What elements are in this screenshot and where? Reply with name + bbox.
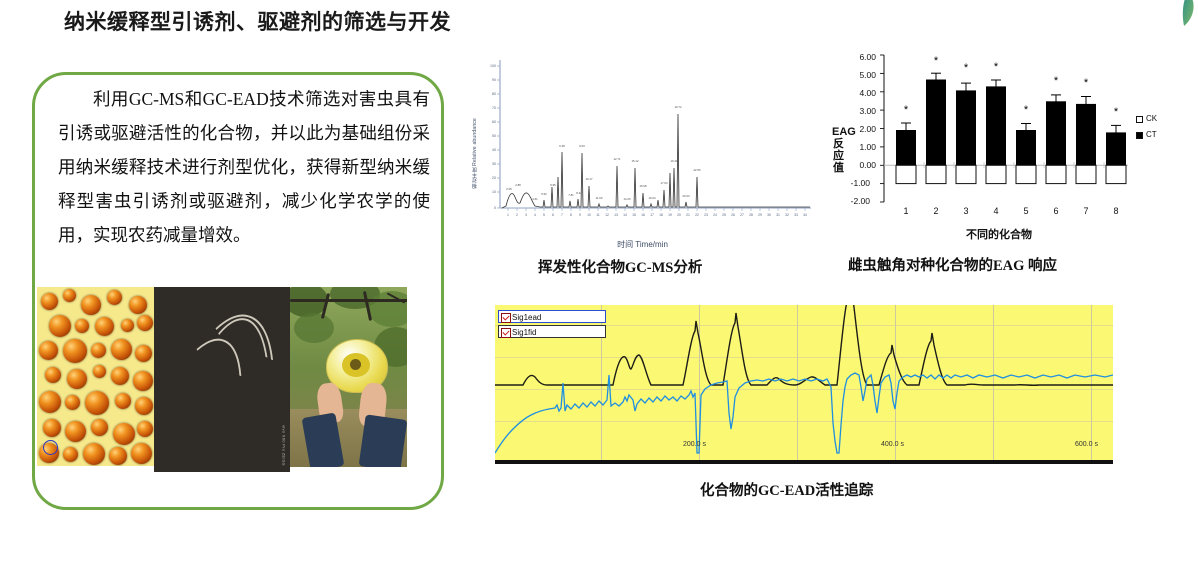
svg-text:7.81: 7.81 [568,193,574,197]
svg-text:12: 12 [605,213,609,217]
eag-xtick-8: 8 [1104,206,1128,216]
eag-legend-swatch-ct [1136,132,1143,139]
svg-text:*: * [1084,77,1089,89]
signal-label-fid: Sig1fid [512,328,536,337]
orchard-trap-photo [290,287,407,467]
svg-text:50: 50 [492,134,496,138]
svg-text:34: 34 [803,213,807,217]
svg-text:26: 26 [731,213,735,217]
svg-text:100: 100 [490,64,496,68]
svg-text:4.61: 4.61 [532,197,538,201]
svg-text:20.63: 20.63 [683,194,690,198]
svg-text:31: 31 [776,213,780,217]
gcead-time-tick-600: 600.0 s [1075,441,1098,448]
gcms-x-axis-label: 时间 Time/min [470,239,815,250]
svg-text:6: 6 [552,213,554,217]
eag-xtick-3: 3 [954,206,978,216]
svg-text:15.12: 15.12 [632,159,639,163]
svg-text:7: 7 [561,213,563,217]
eag-ytick-6: 6.00 [846,52,876,62]
eag-xtick-7: 7 [1074,206,1098,216]
eag-ytick-0: 0.00 [846,160,876,170]
svg-text:4: 4 [534,213,536,217]
eag-xtick-2: 2 [924,206,948,216]
svg-text:9.03: 9.03 [579,144,585,148]
svg-text:8: 8 [570,213,572,217]
svg-text:22.56: 22.56 [694,168,701,172]
eag-xtick-6: 6 [1044,206,1068,216]
eag-y-axis-label: EAG反应值 [832,126,845,174]
svg-text:60: 60 [492,120,496,124]
signal-checkbox-fid[interactable]: Sig1fid [498,325,606,338]
svg-text:0: 0 [494,206,496,210]
svg-text:20: 20 [492,176,496,180]
eag-ytick-1: 1.00 [846,142,876,152]
eag-ytick-neg1: -1.00 [840,178,870,188]
svg-text:27: 27 [740,213,744,217]
svg-text:24: 24 [713,213,717,217]
svg-text:10: 10 [492,190,496,194]
svg-text:22: 22 [695,213,699,217]
eag-legend-label-ck: CK [1146,114,1157,123]
svg-text:*: * [904,104,909,116]
svg-text:30: 30 [767,213,771,217]
gcms-plot: 1009080 706050 403020 100 123 [470,56,815,231]
gcms-caption: 挥发性化合物GC-MS分析 [538,256,702,277]
svg-text:80: 80 [492,92,496,96]
svg-text:12.71: 12.71 [614,157,621,161]
checkbox-checked-icon[interactable] [501,313,511,323]
svg-text:5.95: 5.95 [550,183,556,187]
svg-text:30: 30 [492,162,496,166]
svg-text:32: 32 [785,213,789,217]
svg-text:5.52: 5.52 [541,192,547,196]
eag-ytick-4: 4.00 [846,88,876,98]
eag-caption: 雌虫触角对种化合物的EAG 响应 [848,254,1057,275]
eag-plot-area: * * * * * * * [880,52,1130,212]
scale-marker-circle [43,440,58,455]
eag-ytick-5: 5.00 [846,70,876,80]
svg-text:2: 2 [516,213,518,217]
svg-text:19: 19 [668,213,672,217]
eag-ytick-2: 2.00 [846,124,876,134]
eag-xtick-1: 1 [894,206,918,216]
gcead-time-tick-200: 200.0 s [683,441,706,448]
svg-text:17: 17 [650,213,654,217]
svg-text:23: 23 [704,213,708,217]
svg-text:9: 9 [579,213,581,217]
svg-text:2.05: 2.05 [506,187,512,191]
svg-text:11.60: 11.60 [596,196,603,200]
gcms-chromatogram: 相对丰度 Relative abundance 1009080 706050 4… [470,56,815,246]
photo-strip: vivo X60 Pro ZEISS [37,287,407,472]
svg-text:16.64: 16.64 [649,196,656,200]
svg-text:13: 13 [614,213,618,217]
sem-watermark: vivo X60 Pro ZEISS [281,425,287,466]
svg-text:19.72: 19.72 [675,105,682,109]
svg-text:6.48: 6.48 [559,144,565,148]
svg-text:16: 16 [641,213,645,217]
svg-text:3: 3 [525,213,527,217]
svg-text:10: 10 [587,213,591,217]
svg-text:25: 25 [722,213,726,217]
svg-text:18: 18 [659,213,663,217]
svg-text:5: 5 [543,213,545,217]
svg-text:*: * [1114,106,1119,118]
svg-text:10.17: 10.17 [586,177,593,181]
gcead-chart: Sig1ead Sig1fid 200.0 s 400.0 s 600.0 s [495,305,1113,464]
info-panel-body-text: 利用GC-MS和GC-EAD技术筛选对害虫具有引诱或驱避活性的化合物，并以此为基… [58,82,430,252]
svg-text:11: 11 [596,213,600,217]
eag-bar-chart: EAG反应值 6.00 5.00 4.00 3.00 2.00 1.00 0.0… [832,48,1192,248]
svg-text:*: * [964,62,969,74]
fiber-sem-image: vivo X60 Pro ZEISS [154,287,289,472]
gcead-time-tick-400: 400.0 s [881,441,904,448]
gcms-y-axis-label: 相对丰度 Relative abundance [472,118,479,188]
eag-legend-swatch-ck [1136,116,1143,123]
svg-text:33: 33 [794,213,798,217]
svg-text:2.88: 2.88 [515,183,521,187]
svg-text:*: * [934,55,939,67]
svg-text:40: 40 [492,148,496,152]
eag-x-axis-label: 不同的化合物 [884,226,1114,242]
svg-text:*: * [994,61,999,73]
svg-text:21: 21 [686,213,690,217]
checkbox-checked-icon[interactable] [501,328,511,338]
signal-label-ead: Sig1ead [512,313,541,322]
svg-text:*: * [1024,104,1029,116]
svg-text:15: 15 [632,213,636,217]
leaf-icon [1162,0,1198,40]
eag-ytick-neg2: -2.00 [840,196,870,206]
svg-text:15.68: 15.68 [640,184,647,188]
svg-text:19.41: 19.41 [671,159,678,163]
svg-text:1: 1 [507,213,509,217]
svg-text:90: 90 [492,78,496,82]
svg-text:14: 14 [623,213,627,217]
eag-xtick-4: 4 [984,206,1008,216]
svg-text:29: 29 [758,213,762,217]
signal-checkbox-ead[interactable]: Sig1ead [498,310,606,323]
svg-text:17.63: 17.63 [661,181,668,185]
gcead-caption: 化合物的GC-EAD活性追踪 [700,479,873,500]
svg-text:20: 20 [677,213,681,217]
eag-legend-label-ct: CT [1146,130,1157,139]
svg-text:28: 28 [749,213,753,217]
svg-text:8.42: 8.42 [576,191,582,195]
eag-xtick-5: 5 [1014,206,1038,216]
eag-ytick-3: 3.00 [846,106,876,116]
svg-text:70: 70 [492,106,496,110]
svg-text:14.25: 14.25 [624,197,631,201]
svg-text:*: * [1054,75,1059,87]
page-title: 纳米缓释型引诱剂、驱避剂的筛选与开发 [64,6,451,36]
microcapsule-micrograph [37,287,154,466]
